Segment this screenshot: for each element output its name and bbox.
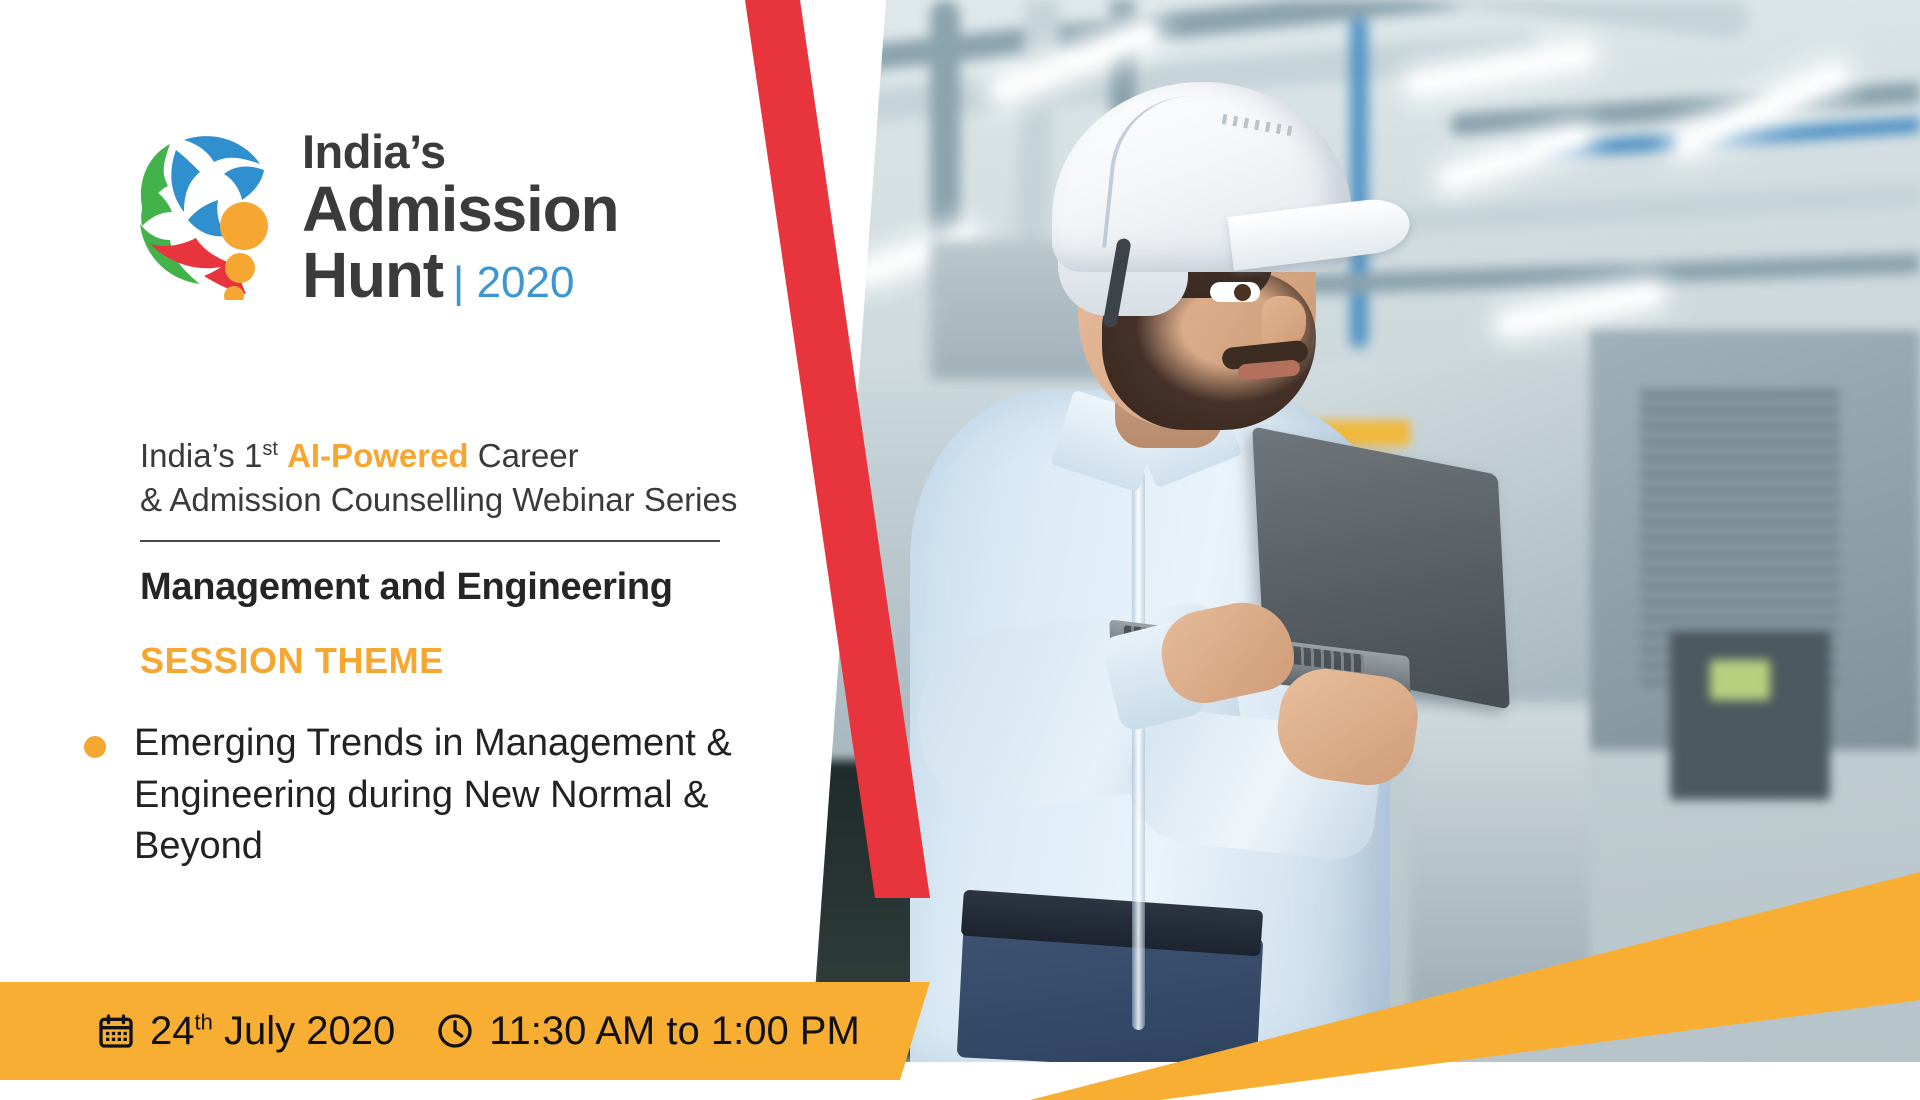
event-date-suffix: th bbox=[195, 1009, 213, 1034]
session-topic-text: Emerging Trends in Management & Engineer… bbox=[134, 718, 784, 873]
tagline-part2: Career bbox=[478, 437, 579, 474]
brand-logo: India’s Admission Hunt| 2020 bbox=[128, 128, 618, 307]
session-topic-item: Emerging Trends in Management & Engineer… bbox=[84, 718, 784, 873]
event-date-rest: July 2020 bbox=[224, 1009, 395, 1053]
logo-line-3: Hunt| 2020 bbox=[302, 243, 618, 307]
session-theme-label: SESSION THEME bbox=[140, 640, 444, 682]
logo-line-1: India’s bbox=[302, 128, 618, 175]
section-divider bbox=[140, 540, 720, 542]
tagline-ordinal-suffix: st bbox=[262, 438, 278, 460]
track-title: Management and Engineering bbox=[140, 566, 673, 609]
logo-line-2: Admission bbox=[302, 177, 618, 241]
logo-year: | 2020 bbox=[453, 258, 575, 307]
tagline-line2: & Admission Counselling Webinar Series bbox=[140, 481, 737, 518]
hero-photo bbox=[810, 0, 1920, 1062]
bullet-dot-icon bbox=[84, 736, 106, 758]
event-time: 11:30 AM to 1:00 PM bbox=[489, 1009, 860, 1054]
calendar-icon bbox=[96, 1011, 136, 1051]
tagline-part1: India’s 1 bbox=[140, 437, 262, 474]
webinar-poster: India’s Admission Hunt| 2020 India’s 1st… bbox=[0, 0, 1920, 1100]
tagline: India’s 1st AI-Powered Career & Admissio… bbox=[140, 434, 780, 521]
admission-hunt-swirl-icon bbox=[128, 128, 288, 300]
event-date-day: 24 bbox=[150, 1009, 195, 1053]
event-date: 24th July 2020 bbox=[150, 1009, 395, 1054]
left-content-column: India’s Admission Hunt| 2020 India’s 1st… bbox=[0, 0, 820, 1100]
tagline-highlight: AI-Powered bbox=[287, 437, 469, 474]
schedule-bar: 24th July 2020 11:30 AM to 1:00 PM bbox=[0, 982, 960, 1080]
engineer-figure bbox=[810, 0, 1920, 1062]
logo-hunt-word: Hunt bbox=[302, 239, 443, 311]
clock-icon bbox=[435, 1011, 475, 1051]
